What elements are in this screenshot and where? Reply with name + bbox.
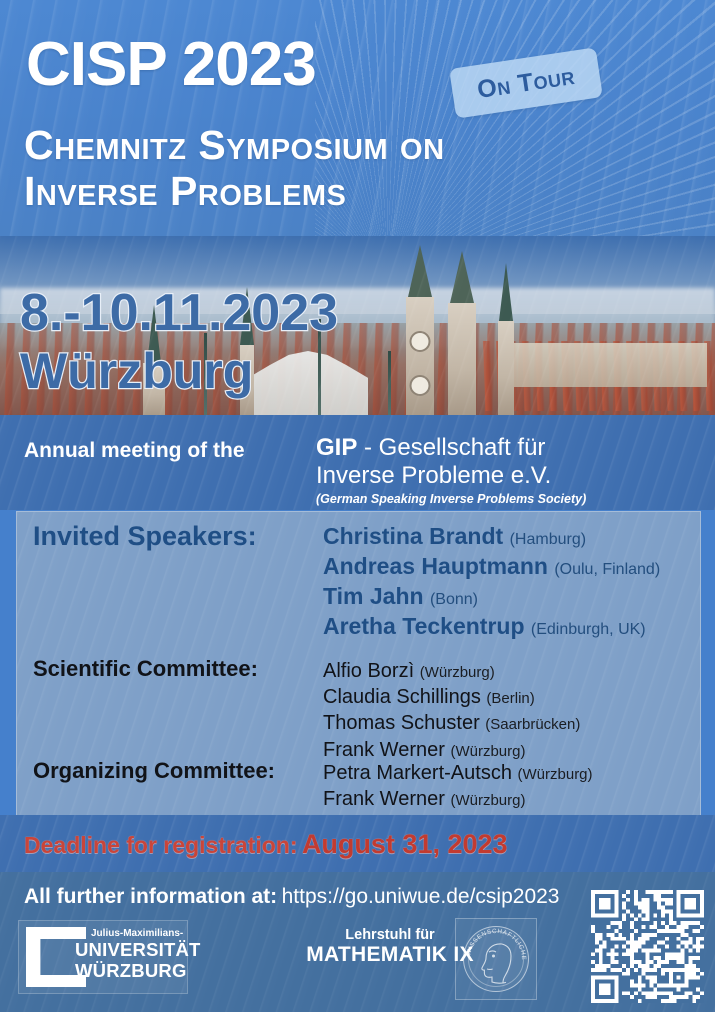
qr-code-image[interactable] <box>591 890 704 1003</box>
person-affiliation: (Würzburg) <box>450 792 525 809</box>
conference-url[interactable]: https://go.uniwue.de/csip2023 <box>282 885 560 908</box>
date-city-text: 8.-10.11.2023 Würzburg <box>18 278 438 408</box>
university-logo: Julius-Maximilians- UNIVERSITÄT WÜRZBURG <box>18 920 188 994</box>
university-name-line2: WÜRZBURG <box>75 961 201 982</box>
person-entry: Christina Brandt (Hamburg) <box>323 522 660 552</box>
qr-code[interactable] <box>591 890 704 1003</box>
person-entry: Alfio Borzì (Würzburg) <box>323 658 580 684</box>
deadline-band: Deadline for registration: August 31, 20… <box>0 815 715 872</box>
person-affiliation: (Würzburg) <box>518 766 593 783</box>
registration-deadline: Deadline for registration: August 31, 20… <box>24 829 508 860</box>
person-entry: Petra Markert-Autsch (Würzburg) <box>323 760 593 786</box>
person-affiliation: (Oulu, Finland) <box>554 561 660 578</box>
organizing-committee-list: Petra Markert-Autsch (Würzburg)Frank Wer… <box>323 760 593 812</box>
photo-spire-right <box>450 251 474 303</box>
person-affiliation: (Würzburg) <box>420 664 495 681</box>
university-name: UNIVERSITÄT WÜRZBURG <box>75 940 201 981</box>
person-affiliation: (Hamburg) <box>510 531 586 548</box>
gip-acronym: GIP <box>316 434 357 461</box>
person-name: Thomas Schuster <box>323 712 485 734</box>
person-entry: Thomas Schuster (Saarbrücken) <box>323 710 580 736</box>
person-entry: Aretha Teckentrup (Edinburgh, UK) <box>323 612 660 642</box>
scientific-committee-list: Alfio Borzì (Würzburg)Claudia Schillings… <box>323 658 580 763</box>
person-affiliation: (Berlin) <box>486 690 534 707</box>
person-entry: Tim Jahn (Bonn) <box>323 582 660 612</box>
person-affiliation: (Edinburgh, UK) <box>531 621 646 638</box>
person-affiliation: (Würzburg) <box>450 743 525 760</box>
scientific-computing-seal: WISSENSCHAFTLICHES RECHNEN <box>455 918 537 1000</box>
more-information-line: All further information at: https://go.u… <box>24 885 560 909</box>
invited-speakers-label: Invited Speakers: <box>33 521 257 552</box>
person-entry: Frank Werner (Würzburg) <box>323 786 593 812</box>
seal-text: WISSENSCHAFTLICHES RECHNEN <box>456 919 527 961</box>
person-name: Tim Jahn <box>323 583 430 609</box>
photo-neumuenster-tower <box>498 321 514 415</box>
seal-portrait-icon <box>482 944 511 983</box>
chair-label: Lehrstuhl für MATHEMATIK IX <box>300 927 480 967</box>
university-name-line1: UNIVERSITÄT <box>75 940 201 961</box>
gip-english-subtitle: (German Speaking Inverse Problems Societ… <box>316 492 586 506</box>
wuerzburg-skyline-photo: 8.-10.11.2023 Würzburg <box>0 236 715 415</box>
poster-subtitle: Chemnitz Symposium on Inverse Problems <box>24 122 684 215</box>
deadline-label: Deadline for registration: <box>24 832 297 858</box>
person-affiliation: (Bonn) <box>430 591 478 608</box>
person-name: Frank Werner <box>323 739 450 761</box>
person-entry: Frank Werner (Würzburg) <box>323 737 580 763</box>
person-name: Alfio Borzì <box>323 660 420 682</box>
page-title: CISP 2023 <box>26 34 316 96</box>
invited-speakers-list: Christina Brandt (Hamburg)Andreas Hauptm… <box>323 522 660 642</box>
gip-name-line2: Inverse Probleme e.V. <box>316 462 551 490</box>
person-name: Andreas Hauptmann <box>323 553 554 579</box>
person-name: Frank Werner <box>323 788 450 810</box>
photo-spire-neumuenster <box>499 263 513 321</box>
university-prefix: Julius-Maximilians- <box>91 928 183 939</box>
person-name: Aretha Teckentrup <box>323 613 531 639</box>
person-name: Petra Markert-Autsch <box>323 762 518 784</box>
chair-line2: MATHEMATIK IX <box>300 943 480 967</box>
gip-name-rest: - Gesellschaft für <box>357 434 545 461</box>
deadline-date: August 31, 2023 <box>302 829 508 859</box>
scientific-committee-label: Scientific Committee: <box>33 656 258 682</box>
person-name: Claudia Schillings <box>323 686 486 708</box>
seal-artwork: WISSENSCHAFTLICHES RECHNEN <box>456 919 536 999</box>
person-entry: Claudia Schillings (Berlin) <box>323 684 580 710</box>
info-label: All further information at: <box>24 885 277 908</box>
photo-residence-palace <box>507 343 707 387</box>
annual-meeting-label: Annual meeting of the <box>24 439 245 463</box>
conference-poster: CISP 2023 On Tour Chemnitz Symposium on … <box>0 0 715 1012</box>
photo-cathedral-tower-right <box>448 303 476 415</box>
gip-annual-meeting-band: Annual meeting of the GIP - Gesellschaft… <box>0 415 715 510</box>
event-date: 8.-10.11.2023 <box>20 284 338 342</box>
person-affiliation: (Saarbrücken) <box>485 716 580 733</box>
people-panel: Invited Speakers: Christina Brandt (Hamb… <box>16 511 701 817</box>
poster-header: CISP 2023 On Tour Chemnitz Symposium on … <box>0 0 715 236</box>
gip-society-name: GIP - Gesellschaft für Inverse Probleme … <box>316 434 551 489</box>
event-city: Würzburg <box>20 343 253 399</box>
subtitle-line-1: Chemnitz Symposium on <box>24 122 684 168</box>
person-entry: Andreas Hauptmann (Oulu, Finland) <box>323 552 660 582</box>
person-name: Christina Brandt <box>323 523 510 549</box>
chair-line1: Lehrstuhl für <box>300 927 480 943</box>
organizing-committee-label: Organizing Committee: <box>33 758 275 784</box>
subtitle-line-2: Inverse Problems <box>24 168 684 214</box>
